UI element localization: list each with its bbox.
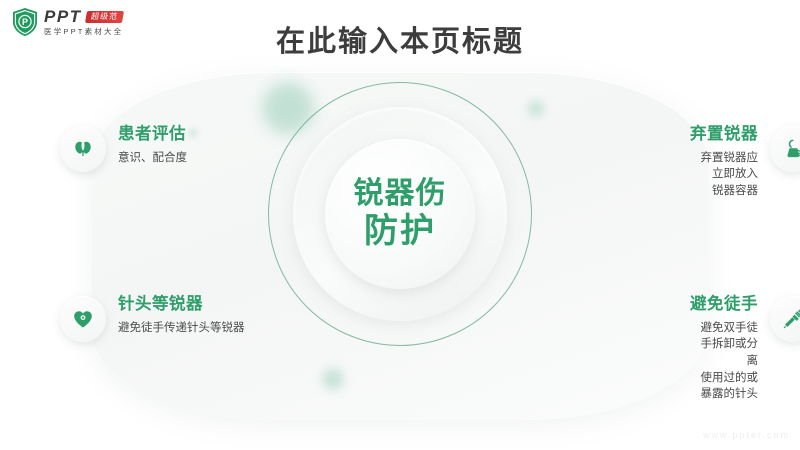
page-title: 在此输入本页标题 — [0, 18, 800, 60]
item-description: 意识、配合度 — [118, 150, 187, 167]
syringe-icon — [770, 296, 800, 342]
slide-canvas: P PPT 超级范 医学PPT素材大全 在此输入本页标题 锐器伤 防护 — [0, 0, 800, 450]
item-description: 弃置锐器应立即放入 锐器容器 — [690, 150, 758, 200]
heart-icon — [60, 296, 106, 342]
item-patient-assessment[interactable]: 患者评估 意识、配合度 — [60, 124, 187, 172]
item-text-block: 弃置锐器 弃置锐器应立即放入 锐器容器 — [690, 124, 758, 200]
center-label: 锐器伤 防护 — [354, 177, 447, 251]
item-title: 弃置锐器 — [690, 125, 758, 143]
decorative-blob — [322, 368, 344, 390]
item-text-block: 针头等锐器 避免徒手传递针头等锐器 — [118, 294, 245, 336]
item-text-block: 避免徒手 避免双手徒手拆卸或分离 使用过的或暴露的针头 — [690, 294, 758, 403]
center-label-line1: 锐器伤 — [354, 177, 447, 212]
sharps-container-icon — [770, 126, 800, 172]
item-description: 避免双手徒手拆卸或分离 使用过的或暴露的针头 — [690, 320, 758, 403]
watermark: www.ppter.com — [703, 430, 790, 440]
decorative-blob — [188, 128, 198, 138]
item-description: 避免徒手传递针头等锐器 — [118, 320, 245, 337]
item-discard-sharps[interactable]: 弃置锐器 弃置锐器应立即放入 锐器容器 — [690, 124, 800, 200]
item-title: 患者评估 — [118, 125, 186, 143]
item-text-block: 患者评估 意识、配合度 — [118, 124, 187, 166]
item-title: 避免徒手 — [690, 295, 758, 313]
decorative-blob — [527, 100, 545, 118]
item-title: 针头等锐器 — [118, 295, 203, 313]
center-label-line2: 防护 — [354, 212, 447, 251]
item-avoid-bare-hands[interactable]: 避免徒手 避免双手徒手拆卸或分离 使用过的或暴露的针头 — [690, 294, 800, 403]
kidneys-icon — [60, 126, 106, 172]
item-needles-sharps[interactable]: 针头等锐器 避免徒手传递针头等锐器 — [60, 294, 245, 342]
